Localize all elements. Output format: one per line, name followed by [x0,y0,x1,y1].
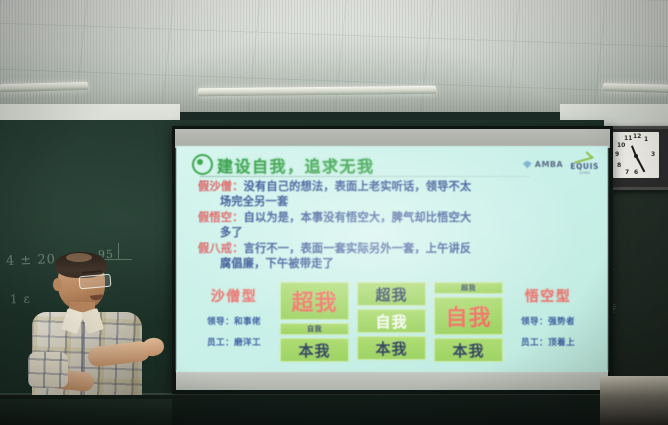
psyche-cell: 自我 [434,297,503,335]
psyche-cell: 本我 [434,338,503,362]
front-desk-edge [0,399,172,425]
slide-title: 建设自我，追求无我 [217,153,375,177]
psyche-column: 超我 自我 本我 [280,282,349,366]
right-group-line: 员工：顶着上 [496,336,600,348]
psyche-column: 超我 自我 本我 [357,282,426,366]
wall-clock: 12 1 3 6 7 9 10 11 8 [607,126,668,190]
clock-numeral: 6 [634,169,638,176]
clock-numeral: 1 [644,136,648,143]
lecturer-ear [53,278,62,291]
bullet-text: 没有自己的想法，表面上老实听话，领导不太 [244,180,472,193]
classroom-scene: 4 ± 20 95 1 ε 二 有 专 12 1 3 6 7 9 10 11 8… [0,0,668,425]
shirt-sleeve [28,352,68,388]
bullet-label: 假沙僧： [198,180,244,193]
projection-screen-bottom-margin [176,370,608,390]
bullet-continuation: 多了 [198,225,588,240]
bullet-line: 假悟空：自以为是，本事没有悟空大，脾气却比悟空大 [198,210,588,225]
ceiling-shading [0,0,668,112]
amba-label: AMBA [535,160,563,169]
amba-diamond-icon [523,161,532,169]
psyche-cell: 超我 [357,282,426,306]
slide-header: 建设自我，追求无我 AMBA EQUIS EFMD [176,146,608,180]
psyche-diagram: 超我 自我 本我 超我 自我 本我 超我 自我 本我 [280,282,505,366]
ceiling [0,0,668,112]
psyche-cell: 自我 [357,309,426,333]
psyche-cell: 超我 [434,282,503,294]
lecturer-hairline [66,253,92,262]
bullet-line: 假沙僧：没有自己的想法，表面上老实听话，领导不太 [198,179,588,194]
equis-sublabel: EFMD [579,172,590,176]
floor-right-corner [600,376,668,425]
clock-numeral: 7 [625,169,629,176]
left-group-line: 领导：和事佬 [182,315,286,327]
bullet-continuation: 场完全另一套 [198,194,588,209]
accreditation-logos: AMBA EQUIS EFMD [523,154,599,175]
clock-face: 12 1 3 6 7 9 10 11 8 [613,132,659,178]
sleeve-plaid-pattern [28,352,68,388]
equis-logo-icon: EQUIS EFMD [570,154,599,175]
clock-numeral: 10 [617,142,625,149]
right-group-line: 领导：强势者 [496,315,600,327]
left-group-title: 沙僧型 [182,286,286,306]
bullet-continuation: 腐倡廉，下午被带走了 [198,256,588,271]
presentation-slide: 建设自我，追求无我 AMBA EQUIS EFMD 假沙僧：没有自己的想法，表面… [176,146,608,372]
psyche-cell: 自我 [280,323,349,335]
psyche-cell: 超我 [280,282,349,320]
glasses-icon [78,274,111,290]
bullet-line: 假八戒：言行不一，表面一套实际另外一套，上午讲反 [198,241,588,256]
clock-numeral: 8 [617,162,621,169]
left-group-line: 员工：磨洋工 [182,336,286,348]
left-group: 沙僧型 领导：和事佬 员工：磨洋工 [182,286,286,348]
clock-numeral: 12 [633,133,641,140]
right-group-title: 悟空型 [496,286,600,306]
clock-numeral: 9 [615,151,619,158]
bullet-text: 自以为是，本事没有悟空大，脾气却比悟空大 [244,211,472,224]
header-divider [200,176,530,177]
psyche-column: 超我 自我 本我 [434,282,503,366]
bullet-label: 假悟空： [198,211,244,224]
lecturer-mouth [90,294,103,300]
psyche-cell: 本我 [357,336,426,360]
psyche-cell: 本我 [280,338,349,362]
right-group: 悟空型 领导：强势者 员工：顶着上 [496,286,600,348]
clock-center-pin [634,154,638,158]
amba-logo-icon: AMBA [523,160,563,169]
bullet-label: 假八戒： [198,242,244,255]
equis-swoosh-icon [574,154,596,163]
clock-numeral: 11 [624,135,632,142]
clock-numeral: 3 [651,151,655,158]
equis-label: EQUIS [570,163,599,171]
slide-bullet-list: 假沙僧：没有自己的想法，表面上老实听话，领导不太 场完全另一套 假悟空：自以为是… [198,179,588,272]
bullet-text: 言行不一，表面一套实际另外一套，上午讲反 [244,242,472,255]
school-circle-logo-icon [192,154,213,175]
